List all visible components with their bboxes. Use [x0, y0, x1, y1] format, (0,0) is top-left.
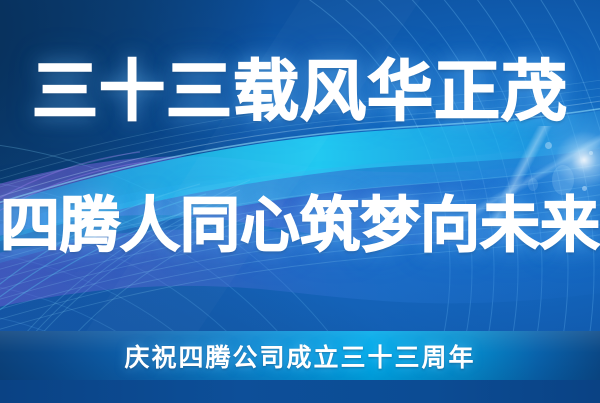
headline-block: 三十三载风华正茂 四腾人同心筑梦向未来	[0, 58, 600, 256]
headline-line-2: 四腾人同心筑梦向未来	[0, 196, 600, 256]
headline-line-1: 三十三载风华正茂	[0, 58, 600, 124]
poster-canvas: 三十三载风华正茂 四腾人同心筑梦向未来 庆祝四腾公司成立三十三周年	[0, 0, 600, 403]
footer-fill	[0, 380, 600, 403]
subtitle-text: 庆祝四腾公司成立三十三周年	[0, 331, 600, 380]
